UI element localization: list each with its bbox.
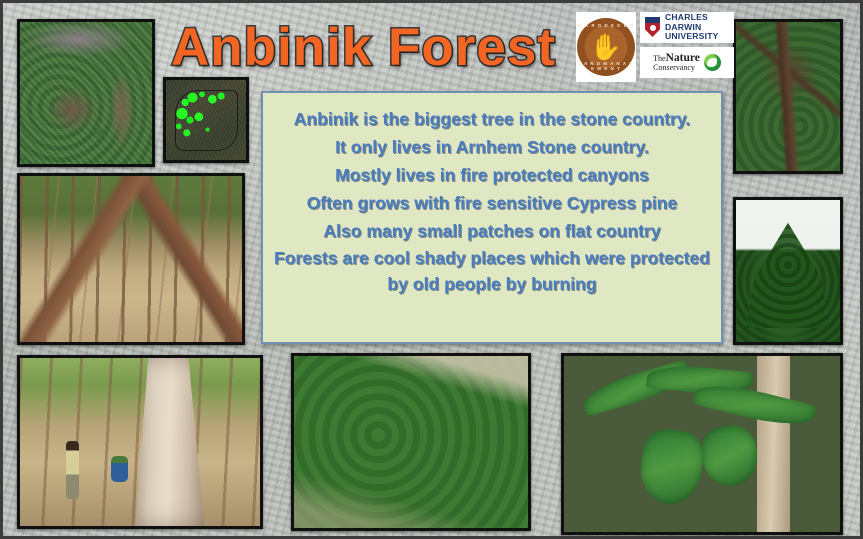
warddeken-emblem: W A R D D E K E N ✋ L A N D M A N A G E … <box>577 18 635 76</box>
globe-icon <box>704 54 721 71</box>
sapling-stem <box>757 356 790 532</box>
leaf <box>638 427 706 507</box>
text-line: Forests are cool shady places which were… <box>273 245 711 297</box>
big-tree-trunk <box>135 358 207 526</box>
shield-icon <box>643 16 662 39</box>
hand-icon: ✋ <box>590 34 622 60</box>
photo-forest-interior <box>17 173 245 345</box>
tnc-line-3: Conservancy <box>653 63 695 72</box>
person-crouching <box>111 456 128 482</box>
photo-people-by-big-trunk <box>17 355 263 529</box>
logo-charles-darwin-university: CHARLES DARWIN UNIVERSITY <box>640 12 734 43</box>
warddeken-bottom-text: L A N D M A N A G E M E N T <box>577 61 635 71</box>
cdu-line-3: UNIVERSITY <box>665 32 719 41</box>
photo-leaf-closeup-image <box>564 356 840 532</box>
anbinik-forest-poster: Anbinik Forest W A R D D E K E N ✋ L A N… <box>0 0 863 539</box>
photo-forest-interior-image <box>20 176 242 342</box>
photo-people-by-big-trunk-image <box>20 358 260 526</box>
photo-cypress-pine-image <box>736 200 840 342</box>
text-line: Often grows with fire sensitive Cypress … <box>273 189 711 217</box>
cypress-pine-canopy <box>744 223 831 328</box>
tnc-line-1: The <box>653 54 665 63</box>
text-line: Also many small patches on flat country <box>273 217 711 245</box>
information-textbox: Anbinik is the biggest tree in the stone… <box>261 91 723 344</box>
cdu-wordmark: CHARLES DARWIN UNIVERSITY <box>665 13 719 41</box>
page-title: Anbinik Forest <box>171 17 556 78</box>
text-line: It only lives in Arnhem Stone country. <box>273 133 711 161</box>
photo-cypress-pine <box>733 197 843 345</box>
photo-leaf-closeup <box>561 353 843 535</box>
photo-large-spreading-tree <box>733 19 843 174</box>
logo-column: CHARLES DARWIN UNIVERSITY TheNature Cons… <box>640 12 734 78</box>
photo-satellite-patches <box>163 77 249 163</box>
photo-aerial-canopy <box>291 353 531 531</box>
warddeken-top-text: W A R D D E K E N <box>577 23 635 28</box>
photo-satellite-patches-image <box>166 80 246 160</box>
logo-the-nature-conservancy: TheNature Conservancy <box>640 47 734 78</box>
logo-warddeken-land-management: W A R D D E K E N ✋ L A N D M A N A G E … <box>576 12 636 82</box>
leaf <box>698 423 761 490</box>
tnc-wordmark: TheNature Conservancy <box>653 54 700 72</box>
photo-escarpment-canyon-image <box>20 22 152 164</box>
photo-aerial-canopy-image <box>294 356 528 528</box>
person-standing <box>66 441 79 499</box>
text-line: Anbinik is the biggest tree in the stone… <box>273 105 711 133</box>
photo-large-spreading-tree-image <box>736 22 840 171</box>
photo-escarpment-canyon <box>17 19 155 167</box>
text-line: Mostly lives in fire protected canyons <box>273 161 711 189</box>
logo-row: W A R D D E K E N ✋ L A N D M A N A G E … <box>576 12 734 82</box>
map-boundary-polygon <box>175 90 238 151</box>
